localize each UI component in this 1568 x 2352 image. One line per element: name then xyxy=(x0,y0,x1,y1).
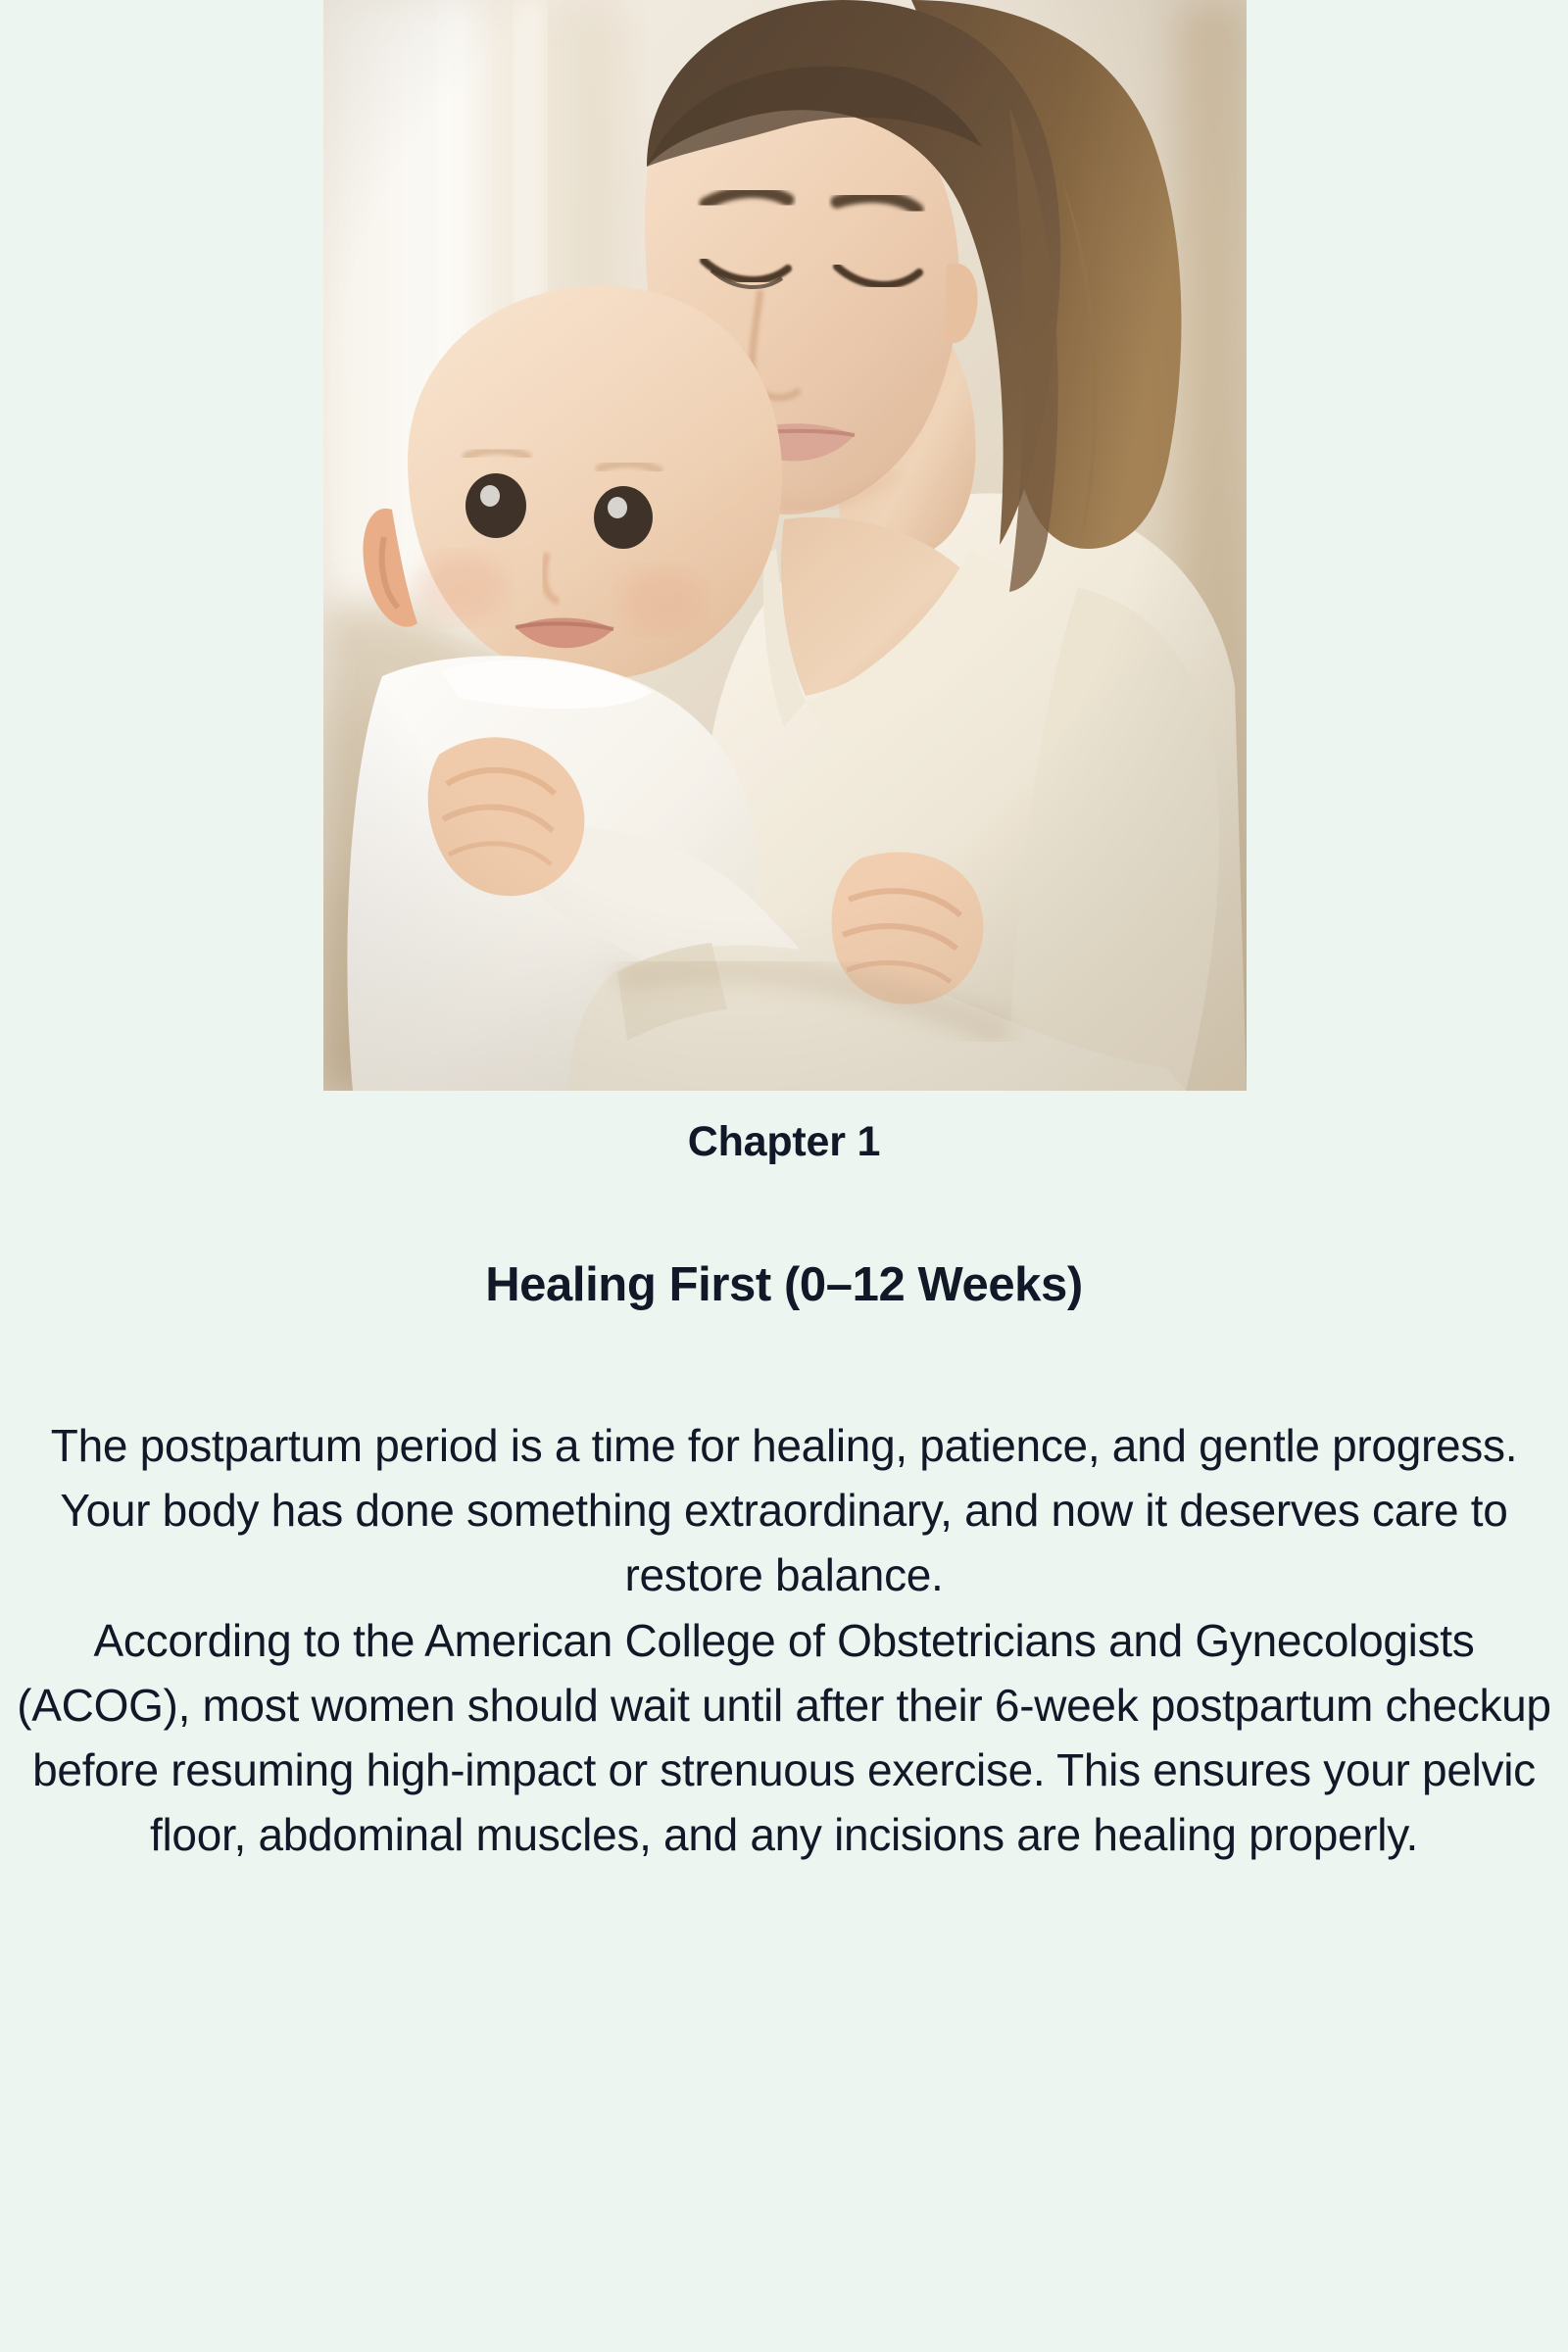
chapter-page: Chapter 1 Healing First (0–12 Weeks) The… xyxy=(0,0,1568,2352)
mother-holding-baby-photo xyxy=(323,0,1247,1091)
chapter-label: Chapter 1 xyxy=(0,1117,1568,1167)
hero-image-container xyxy=(323,0,1247,1091)
chapter-body-text: The postpartum period is a time for heal… xyxy=(8,1413,1560,1868)
page-title: Healing First (0–12 Weeks) xyxy=(0,1257,1568,1314)
